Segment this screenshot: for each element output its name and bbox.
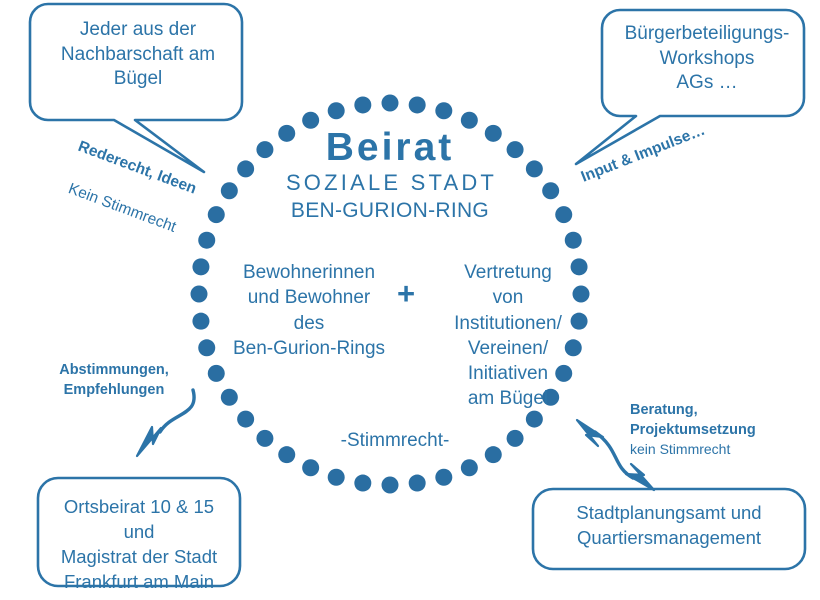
ring-dot (191, 286, 208, 303)
bubble-buergerbeteiligung-label: Bürgerbeteiligungs- Workshops AGs … (608, 22, 806, 96)
ring-dot (302, 459, 319, 476)
center-voting-note: -Stimmrecht- (300, 430, 490, 452)
ring-dot (208, 365, 225, 382)
diagram-canvas: Jeder aus der Nachbarschaft am Bügel Bür… (0, 0, 820, 600)
center-title-block: Beirat SOZIALE STADT BEN-GURION-RING (230, 127, 550, 223)
ring-dot (208, 206, 225, 223)
ring-dot (192, 313, 209, 330)
connector-label-abstimmungen: Abstimmungen, Empfehlungen (44, 360, 184, 400)
ring-dot (198, 232, 215, 249)
connector-label-beratung-regular: kein Stimmrecht (630, 440, 790, 459)
box-ortsbeirat-label: Ortsbeirat 10 & 15 und Magistrat der Sta… (44, 494, 234, 595)
ring-dot (507, 430, 524, 447)
center-column-residents: Bewohnerinnen und Bewohner des Ben-Gurio… (218, 260, 400, 361)
ring-dot (565, 232, 582, 249)
ring-dot (409, 475, 426, 492)
ring-dot (382, 477, 399, 494)
ring-dot (192, 258, 209, 275)
ring-dot (555, 206, 572, 223)
ring-dot (237, 411, 254, 428)
box-stadtplanung-label: Stadtplanungsamt und Quartiersmanagement (544, 500, 794, 550)
ring-dot (198, 339, 215, 356)
connector-label-beratung: Beratung, Projektumsetzung kein Stimmrec… (630, 400, 790, 459)
ring-dot (328, 469, 345, 486)
ring-dot (409, 96, 426, 113)
connector-label-beratung-bold: Beratung, Projektumsetzung (630, 400, 790, 440)
ring-dot (526, 411, 543, 428)
ring-dot (221, 389, 238, 406)
ring-dot (278, 446, 295, 463)
ring-dot (435, 102, 452, 119)
center-title-sub1: SOZIALE STADT (230, 168, 550, 198)
bubble-nachbarschaft-label: Jeder aus der Nachbarschaft am Bügel (38, 18, 238, 92)
ring-dot (382, 95, 399, 112)
plus-icon: + (392, 278, 420, 309)
center-column-institutions: Vertretung von Institutionen/ Vereinen/ … (428, 260, 588, 412)
center-title-sub2: BEN-GURION-RING (230, 199, 550, 224)
ring-dot (354, 96, 371, 113)
ring-dot (461, 459, 478, 476)
ring-dot (435, 469, 452, 486)
ring-dot (354, 475, 371, 492)
center-title-main: Beirat (230, 127, 550, 168)
ring-dot (328, 102, 345, 119)
ring-dot (256, 430, 273, 447)
